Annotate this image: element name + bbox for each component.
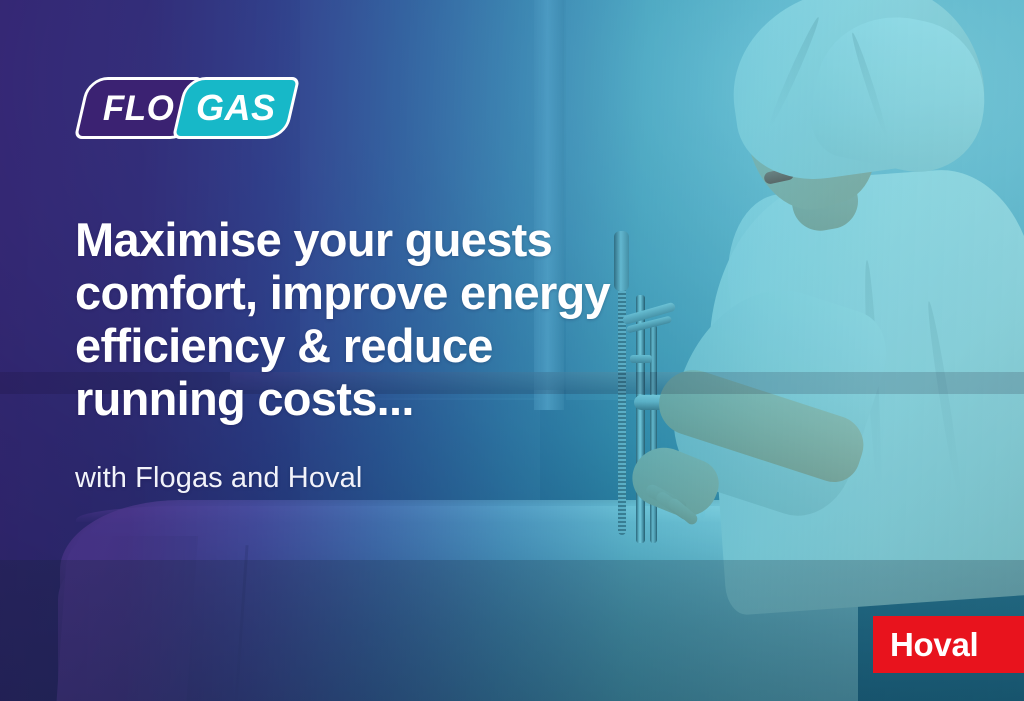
flogas-logo-gas-text: GAS xyxy=(196,90,276,126)
hoval-logo-text: Hoval xyxy=(890,628,978,661)
headline: Maximise your guests comfort, improve en… xyxy=(75,213,635,425)
copy-block: Maximise your guests comfort, improve en… xyxy=(75,213,635,495)
headline-line-2: comfort, improve energy xyxy=(75,266,635,319)
headline-line-4: running costs... xyxy=(75,372,635,425)
flogas-logo-flo-text: FLO xyxy=(103,91,174,126)
headline-line-1: Maximise your guests xyxy=(75,213,635,266)
flogas-logo-gas-block: GAS xyxy=(172,77,300,139)
flogas-logo[interactable]: FLO GAS xyxy=(75,74,293,148)
headline-line-3: efficiency & reduce xyxy=(75,319,635,372)
hoval-logo[interactable]: Hoval xyxy=(873,616,1024,673)
subheadline: with Flogas and Hoval xyxy=(75,461,635,495)
flogas-hoval-banner: FLO GAS Maximise your guests comfort, im… xyxy=(0,0,1024,701)
bottom-shadow-band xyxy=(0,560,1024,701)
